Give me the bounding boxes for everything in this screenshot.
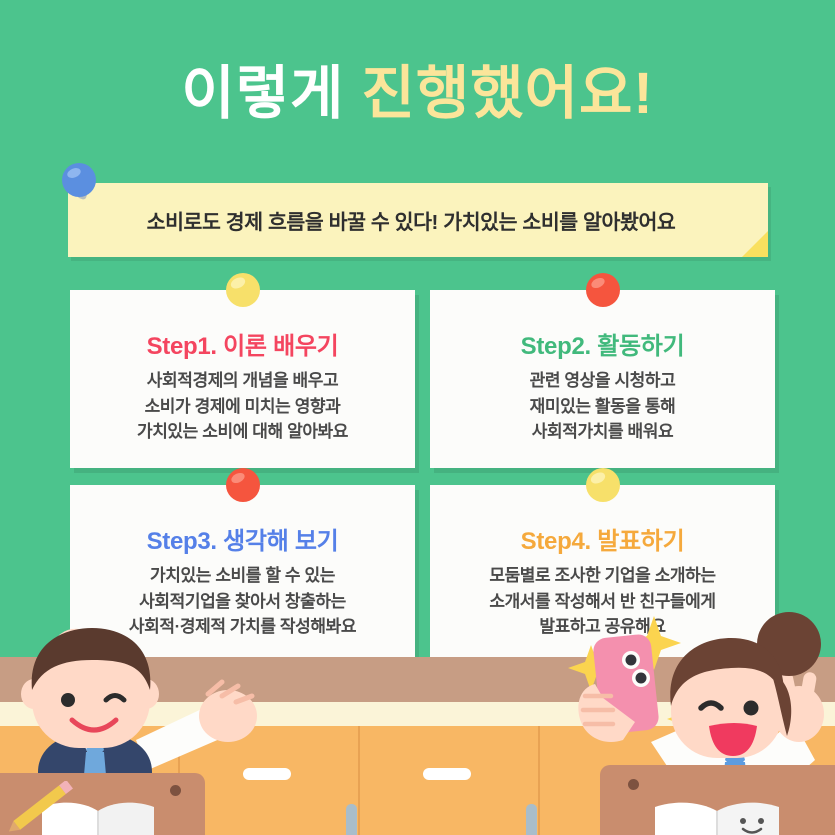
step-card-1-line-1: 사회적경제의 개념을 배우고 (82, 368, 403, 394)
step-card-1-line-2: 소비가 경제에 미치는 영향과 (82, 394, 403, 420)
step-card-2-body: 관련 영상을 시청하고 재미있는 활동을 통해 사회적가치를 배워요 (442, 368, 763, 445)
poster-canvas: 이렇게 진행했어요! 소비로도 경제 흐름을 바꿀 수 있다! 가치있는 소비를… (0, 0, 835, 835)
pushpin-icon (60, 161, 100, 207)
desk-items-right (631, 783, 821, 835)
banner-label: 소비로도 경제 흐름을 바꿀 수 있다! 가치있는 소비를 알아봤어요 (68, 183, 768, 257)
pushpin-icon (583, 270, 623, 310)
subtitle-banner: 소비로도 경제 흐름을 바꿀 수 있다! 가치있는 소비를 알아봤어요 (68, 183, 768, 257)
step-card-4-title: Step4. 발표하기 (430, 521, 775, 556)
step-card-2-line-2: 재미있는 활동을 통해 (442, 394, 763, 420)
step-card-4-line-1: 모둠별로 조사한 기업을 소개하는 (442, 563, 763, 589)
pushpin-icon (223, 270, 263, 310)
step-card-2-line-3: 사회적가치를 배워요 (442, 419, 763, 445)
pushpin-icon (583, 465, 623, 505)
step-card-1-body: 사회적경제의 개념을 배우고 소비가 경제에 미치는 영향과 가치있는 소비에 … (82, 368, 403, 445)
cabinet-divider (538, 726, 540, 835)
page-title-yellow-part: 진행했어요! (362, 61, 654, 126)
classroom-scene (0, 625, 835, 835)
step-card-2-line-1: 관련 영상을 시청하고 (442, 368, 763, 394)
step-card-2[interactable]: Step2. 활동하기 관련 영상을 시청하고 재미있는 활동을 통해 사회적가… (430, 290, 775, 468)
cabinet-latch[interactable] (526, 804, 537, 835)
cabinet-latch[interactable] (346, 804, 357, 835)
step-card-2-title: Step2. 활동하기 (430, 326, 775, 361)
pushpin-icon (223, 465, 263, 505)
step-card-1-title: Step1. 이론 배우기 (70, 326, 415, 361)
cabinet-divider (358, 726, 360, 835)
cabinet-handle[interactable] (423, 768, 471, 780)
page-title: 이렇게 진행했어요! (0, 62, 835, 126)
step-card-3-title: Step3. 생각해 보기 (70, 521, 415, 556)
step-card-3-line-1: 가치있는 소비를 할 수 있는 (82, 563, 403, 589)
step-card-1-line-3: 가치있는 소비에 대해 알아봐요 (82, 419, 403, 445)
desk-items-left (6, 781, 191, 835)
step-card-1[interactable]: Step1. 이론 배우기 사회적경제의 개념을 배우고 소비가 경제에 미치는… (70, 290, 415, 468)
page-title-white-part: 이렇게 (181, 61, 361, 126)
step-card-3-line-2: 사회적기업을 찾아서 창출하는 (82, 589, 403, 615)
